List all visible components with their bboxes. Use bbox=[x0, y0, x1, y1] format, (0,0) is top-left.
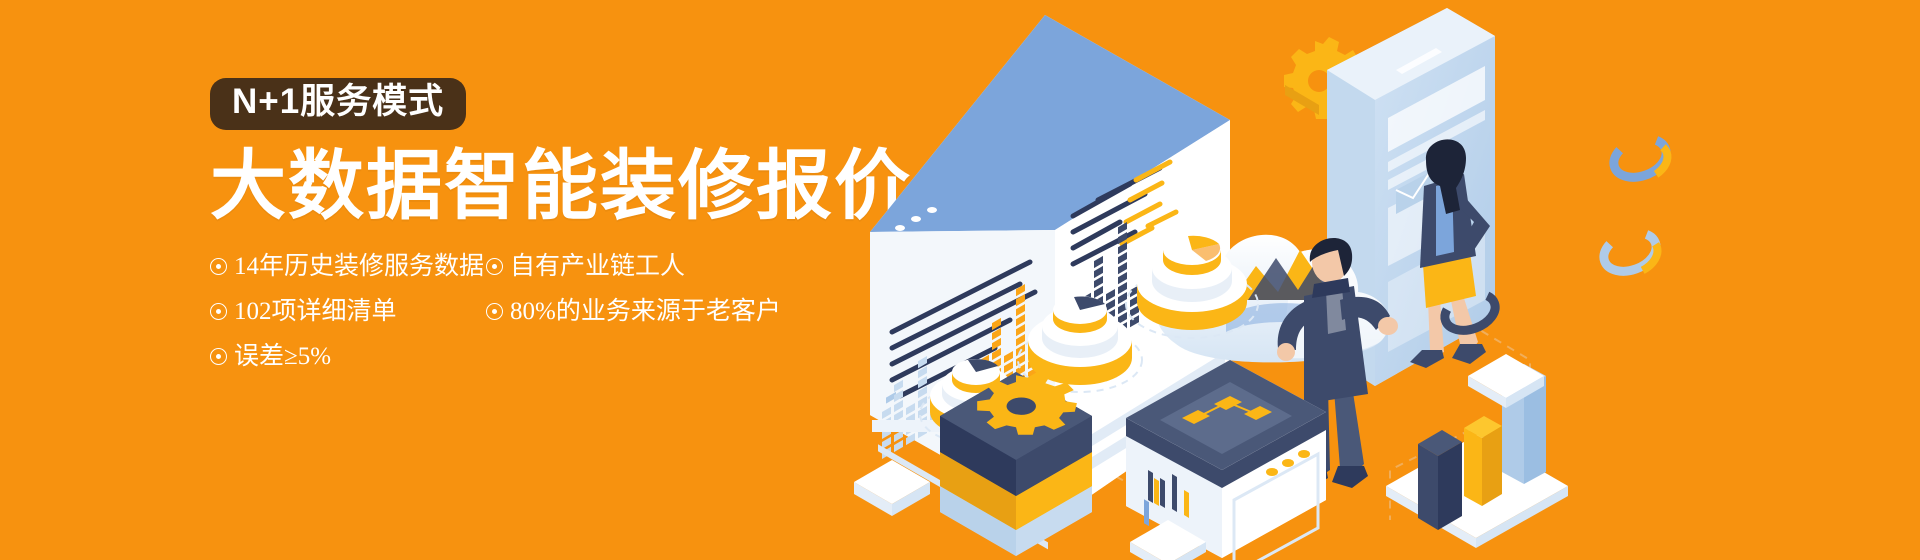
list-item-label: 14年历史装修服务数据 bbox=[234, 254, 484, 279]
feature-column-left: 14年历史装修服务数据 102项详细清单 误差≥5% bbox=[210, 254, 460, 389]
list-item: 14年历史装修服务数据 bbox=[210, 254, 460, 279]
list-item-label: 80%的业务来源于老客户 bbox=[510, 299, 781, 324]
list-item: 自有产业链工人 bbox=[486, 254, 746, 279]
circle-dot-icon bbox=[210, 348, 227, 365]
list-item: 80%的业务来源于老客户 bbox=[486, 299, 746, 324]
page-title: 大数据智能装修报价 bbox=[210, 146, 930, 228]
list-item-label: 误差≥5% bbox=[234, 344, 331, 369]
bar-navy bbox=[1418, 430, 1462, 530]
server-mini-bars bbox=[1144, 499, 1149, 526]
circle-dot-icon bbox=[210, 303, 227, 320]
feature-column-right: 自有产业链工人 80%的业务来源于老客户 bbox=[486, 254, 746, 389]
text-content-block: N+1服务模式 大数据智能装修报价 14年历史装修服务数据 102项详细清单 误… bbox=[210, 78, 930, 389]
bar-yellow bbox=[1464, 416, 1502, 506]
promo-banner: N+1服务模式 大数据智能装修报价 14年历史装修服务数据 102项详细清单 误… bbox=[0, 0, 1920, 560]
isometric-big-data-illustration bbox=[830, 0, 1920, 560]
bar-chart-platform bbox=[1386, 364, 1568, 548]
list-item: 误差≥5% bbox=[210, 344, 460, 369]
circle-dot-icon bbox=[486, 303, 503, 320]
service-mode-badge: N+1服务模式 bbox=[210, 78, 466, 130]
list-item-label: 102项详细清单 bbox=[234, 299, 397, 324]
circle-dot-icon bbox=[486, 258, 503, 275]
feature-list: 14年历史装修服务数据 102项详细清单 误差≥5% 自有产业链工人 bbox=[210, 254, 930, 389]
list-item: 102项详细清单 bbox=[210, 299, 460, 324]
list-item-label: 自有产业链工人 bbox=[510, 254, 685, 279]
circle-dot-icon bbox=[210, 258, 227, 275]
